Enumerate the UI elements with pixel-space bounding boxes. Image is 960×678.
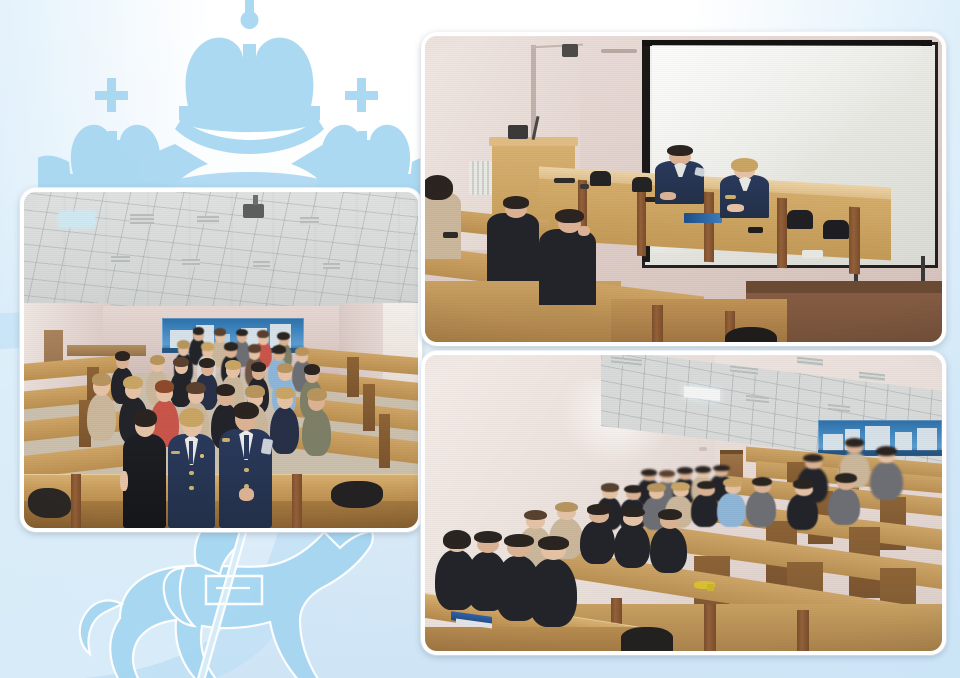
photo-image-group-photo xyxy=(24,192,418,528)
crown-emblem-watermark-icon xyxy=(38,0,468,209)
photo-card-audience[interactable] xyxy=(421,351,946,655)
photo-image-audience xyxy=(425,355,942,651)
photo-image-presidium xyxy=(425,36,942,342)
photo-collage xyxy=(0,0,960,678)
photo-card-presidium[interactable] xyxy=(421,32,946,346)
photo-card-group-photo[interactable] xyxy=(20,188,422,532)
